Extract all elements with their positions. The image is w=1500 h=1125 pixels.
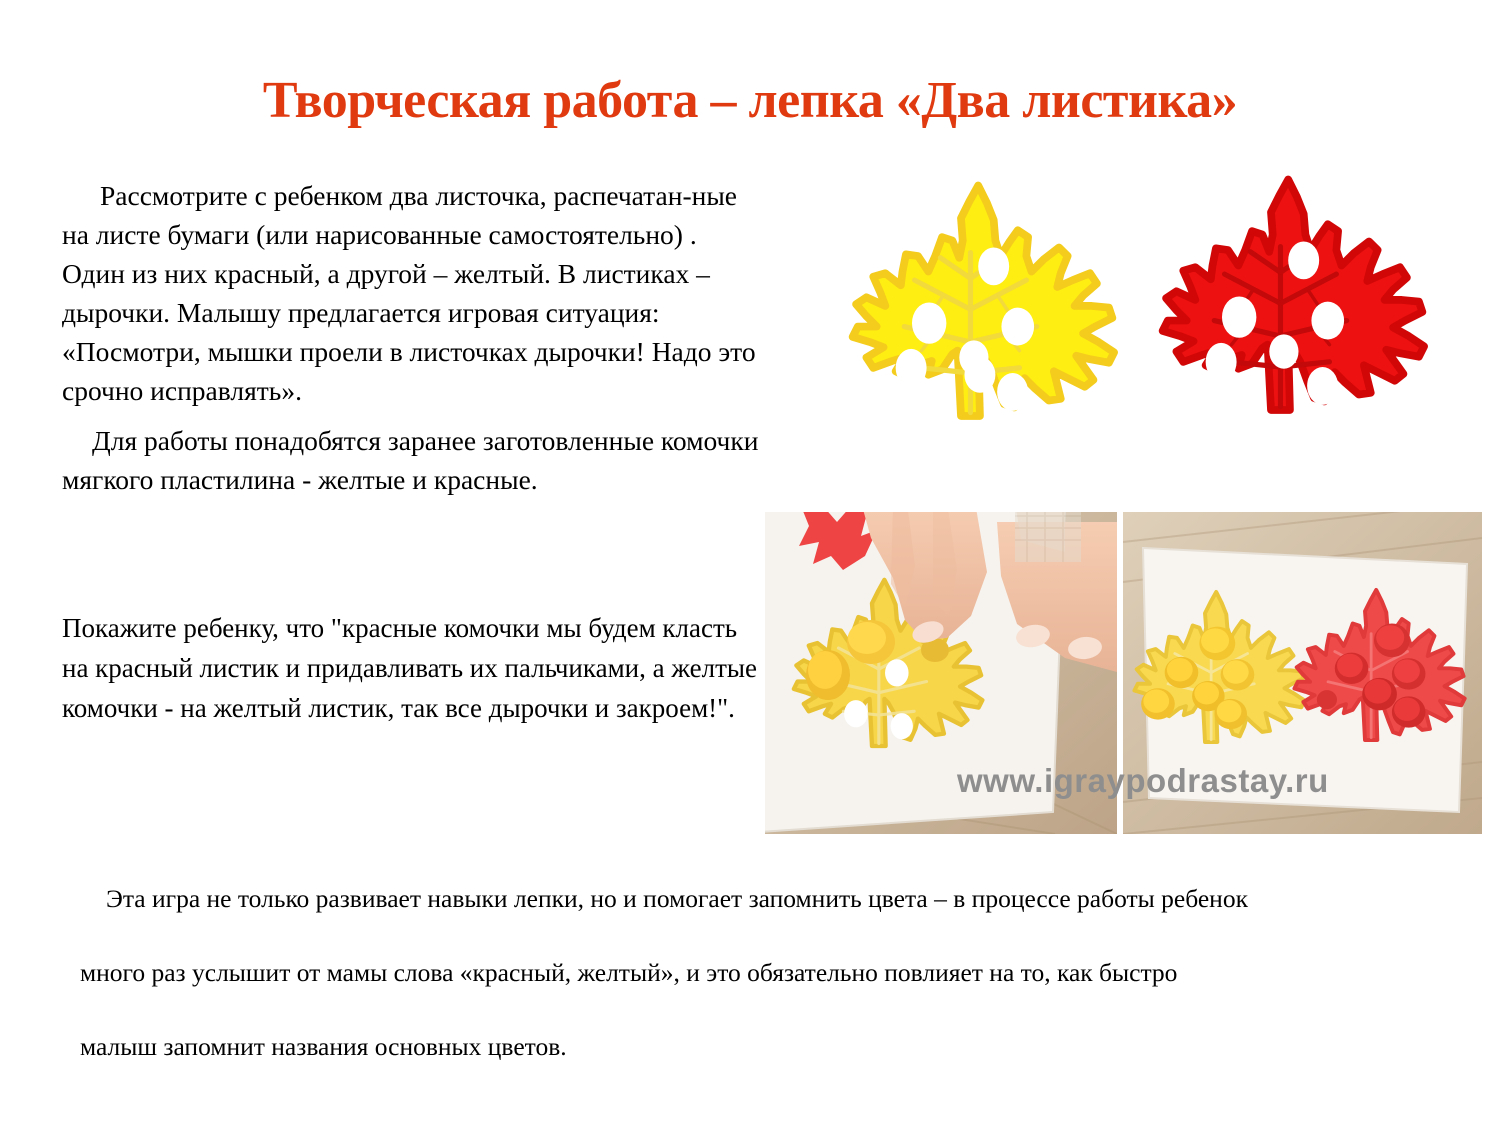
photo-child-pressing-plasticine <box>765 512 1117 834</box>
instruction-paragraph: Покажите ребенку, что "красные комочки м… <box>62 608 762 728</box>
conclusion-text-block: Эта игра не только развивает навыки лепк… <box>80 862 1450 1084</box>
page-title: Творческая работа – лепка «Два листика» <box>0 70 1500 132</box>
photo-finished-craft <box>1123 512 1482 834</box>
conclusion-line-1: Эта игра не только развивает навыки лепк… <box>80 862 1450 936</box>
leaves-illustration <box>822 140 1482 478</box>
intro-paragraph-1: Рассмотрите с ребенком два листочка, рас… <box>62 176 762 410</box>
conclusion-line-3: малыш запомнит названия основных цветов. <box>80 1010 1450 1084</box>
red-maple-leaf <box>1163 180 1424 410</box>
intro-text-block: Рассмотрите с ребенком два листочка, рас… <box>62 176 762 499</box>
conclusion-line-2: много раз услышит от мамы слова «красный… <box>80 936 1450 1010</box>
instruction-text-block: Покажите ребенку, что "красные комочки м… <box>62 608 762 728</box>
photo-strip <box>765 512 1482 834</box>
intro-paragraph-2: Для работы понадобятся заранее заготовле… <box>62 421 762 499</box>
yellow-maple-leaf <box>853 186 1114 416</box>
